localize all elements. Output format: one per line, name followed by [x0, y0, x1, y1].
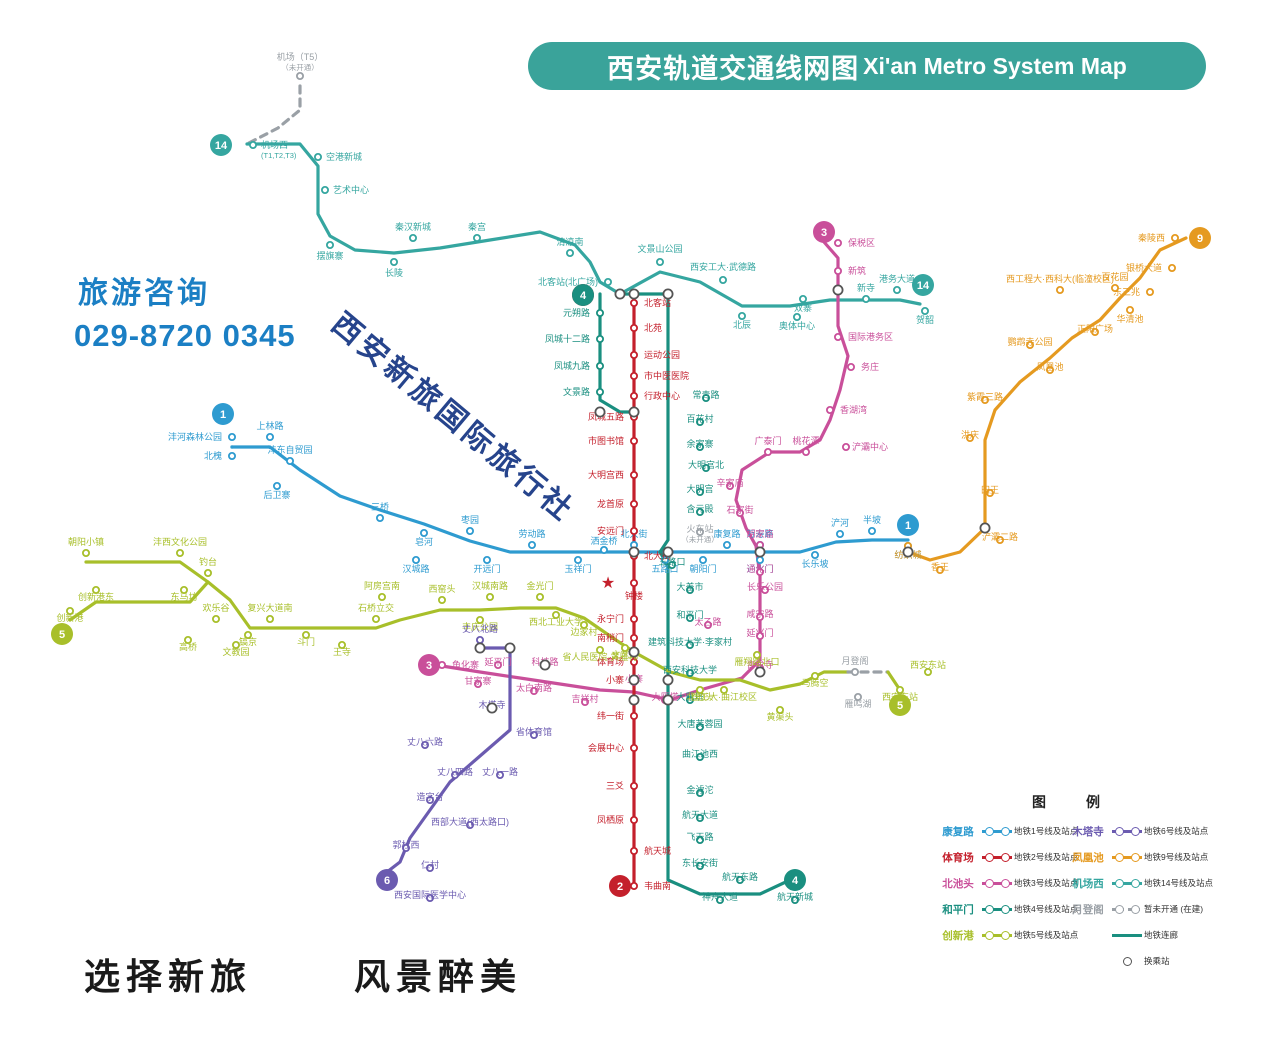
station-label: 文景山公园 [637, 243, 682, 254]
station-dot[interactable] [601, 547, 607, 553]
station[interactable]: 航天城 [631, 845, 671, 856]
station-dot[interactable] [739, 313, 745, 319]
interchange-ring[interactable] [629, 647, 638, 656]
station[interactable]: 丈八一路 [482, 766, 518, 778]
station[interactable]: 凤城九路 [554, 360, 603, 371]
station[interactable]: 钓台 [199, 556, 217, 576]
station[interactable]: 咸宁路 [746, 608, 773, 620]
station-dot[interactable] [800, 296, 806, 302]
station-dot[interactable] [315, 154, 321, 160]
station[interactable]: 皂河 [415, 530, 433, 547]
line-badge-3[interactable]: 3 [418, 654, 440, 676]
interchange-ring[interactable] [629, 289, 638, 298]
station[interactable]: 西安工大·武德路 [690, 261, 756, 283]
station[interactable]: 延兴门 [746, 627, 773, 639]
station[interactable]: 大差市 [676, 581, 703, 593]
station-dot[interactable] [439, 597, 445, 603]
station[interactable]: 半坡 [863, 514, 881, 534]
station[interactable]: 华清池 [1116, 307, 1143, 324]
station[interactable]: 秦陵西 [1138, 232, 1178, 243]
station[interactable]: 凤城十二路 [545, 333, 603, 344]
line-badge-3[interactable]: 3 [813, 221, 835, 243]
interchange-station[interactable] [629, 647, 638, 656]
station[interactable]: 开远门 [473, 557, 500, 574]
station[interactable]: 鹦鹉寺公园 [1007, 336, 1052, 348]
station[interactable]: 航天东路 [722, 871, 758, 883]
station-label: 航天大道 [682, 809, 718, 820]
map-title-cn: 西安轨道交通线网图 [607, 47, 859, 86]
station[interactable]: 和平门 [676, 609, 703, 621]
map-title-en: Xi'an Metro System Map [863, 53, 1127, 80]
station[interactable]: 枣园 [461, 515, 479, 534]
interchange-ring[interactable] [833, 285, 842, 294]
station[interactable]: 金光门 [526, 580, 553, 600]
station[interactable]: 辛家庙 [716, 477, 743, 489]
station-dot[interactable] [835, 268, 841, 274]
station[interactable]: 神舟大道 [702, 891, 738, 903]
station[interactable]: 汉城南路 [472, 580, 508, 600]
station[interactable]: 正阳广场 [1077, 323, 1113, 335]
interchange-ring[interactable] [663, 289, 672, 298]
station[interactable]: 西部大道(西太路口) [431, 816, 509, 828]
station-dot[interactable] [597, 310, 603, 316]
station-dot[interactable] [869, 528, 875, 534]
station[interactable]: 创新港 [56, 608, 83, 623]
station[interactable]: 火车站（未开通） [681, 523, 719, 544]
station-label: 务庄 [861, 361, 879, 372]
line-badge-5[interactable]: 5 [51, 623, 73, 645]
station[interactable]: 余家寨 [686, 438, 713, 450]
station-label: 雁翔路北口 [734, 656, 779, 667]
station-label: 沣西文化公园 [153, 536, 207, 547]
interchange-station[interactable] [505, 643, 514, 652]
station[interactable]: 钟楼 [625, 580, 643, 601]
interchange-ring[interactable] [663, 695, 672, 704]
station-dot[interactable] [597, 389, 603, 395]
line-badge-label: 9 [1197, 233, 1203, 245]
station[interactable]: 北槐 [204, 450, 235, 461]
station-label: 皂河 [415, 536, 433, 547]
station-dot[interactable] [1127, 307, 1133, 313]
station-dot[interactable] [529, 542, 535, 548]
station[interactable]: 延平门 [484, 656, 511, 668]
station[interactable]: 创新港东 [78, 587, 114, 602]
station[interactable]: 省体育馆 [516, 726, 552, 738]
station[interactable]: 丈八北路 [462, 623, 498, 643]
station[interactable]: 石家街 [726, 504, 753, 516]
line-badge-2[interactable]: 2 [609, 875, 631, 897]
station-label: 三桥 [371, 501, 389, 512]
station[interactable]: 贺韶 [916, 308, 934, 325]
station-dot[interactable] [863, 296, 869, 302]
station[interactable]: 太白南路 [516, 682, 552, 694]
station-dot[interactable] [287, 458, 293, 464]
interchange-station[interactable] [475, 643, 484, 652]
interchange-ring[interactable] [629, 695, 638, 704]
station[interactable]: 秦宫 [468, 221, 486, 241]
station-dot[interactable] [631, 635, 637, 641]
interchange-station[interactable] [980, 523, 989, 532]
line-badge-1[interactable]: 1 [897, 514, 919, 536]
station-dot[interactable] [724, 542, 730, 548]
interchange-ring[interactable] [663, 675, 672, 684]
station[interactable]: 甘家寨 [464, 675, 491, 687]
station[interactable]: 北辰 [733, 313, 751, 330]
interchange-station[interactable] [540, 660, 549, 669]
interchange-ring[interactable] [755, 667, 764, 676]
station-label: 香王 [931, 562, 949, 572]
station[interactable]: 浐灞中心 [843, 441, 888, 452]
station[interactable]: 行政中心 [631, 390, 680, 401]
station[interactable]: 胡家庙 [746, 528, 773, 548]
station[interactable]: 西窑头 [428, 583, 455, 603]
station-dot[interactable] [1057, 287, 1063, 293]
interchange-station[interactable] [755, 547, 764, 556]
station[interactable]: 长陵 [385, 259, 403, 278]
station[interactable]: 五路口 [658, 556, 685, 568]
station-dot[interactable] [1112, 285, 1118, 291]
station[interactable]: 浐河 [831, 517, 849, 537]
station[interactable]: 造字台 [416, 791, 443, 803]
station[interactable]: 大明宫 [686, 483, 713, 495]
station[interactable]: 航天新城 [777, 891, 813, 903]
station-dot[interactable] [848, 364, 854, 370]
interchange-ring[interactable] [595, 407, 604, 416]
station-dot[interactable] [575, 557, 581, 563]
station[interactable]: 建筑科技大学·李家村 [648, 636, 732, 648]
station-dot[interactable] [631, 883, 637, 889]
station-label: 省体育馆 [516, 726, 552, 737]
station-dot[interactable] [373, 616, 379, 622]
station[interactable]: 紫霞三路 [967, 391, 1003, 403]
line-badge-5[interactable]: 5 [889, 694, 911, 716]
station-dot[interactable] [631, 745, 637, 751]
station-dot[interactable] [474, 235, 480, 241]
station[interactable]: 会展中心 [588, 742, 637, 753]
station-dot[interactable] [484, 557, 490, 563]
station-dot[interactable] [377, 515, 383, 521]
station[interactable]: 元朔路 [563, 307, 603, 318]
station[interactable]: 西安科技大学 [663, 664, 717, 676]
line-badge-1[interactable]: 1 [212, 403, 234, 425]
station-dot[interactable] [537, 594, 543, 600]
station[interactable]: 文景路 [563, 386, 603, 397]
station-dot[interactable] [827, 407, 833, 413]
station[interactable]: 运动公园 [631, 350, 680, 360]
station[interactable]: 含元殿 [686, 503, 713, 515]
station[interactable]: 洒金桥 [590, 535, 617, 553]
station[interactable]: 南稍门 [597, 632, 637, 643]
station-dot[interactable] [421, 530, 427, 536]
station-dot[interactable] [922, 308, 928, 314]
station[interactable]: 银桥大道 [1126, 262, 1175, 273]
station-dot[interactable] [812, 552, 818, 558]
station[interactable]: 欢乐谷 [202, 602, 229, 622]
station-dot[interactable] [267, 616, 273, 622]
station-label: 东马坊 [170, 591, 197, 602]
station-dot[interactable] [631, 325, 637, 331]
interchange-station[interactable] [487, 703, 496, 712]
station[interactable]: 秦汉新城 [395, 221, 431, 241]
station-label: 长乐坡 [801, 558, 828, 569]
interchange-station[interactable] [755, 667, 764, 676]
interchange-station[interactable] [615, 289, 624, 298]
station-dot[interactable] [597, 336, 603, 342]
station[interactable]: 机场（T5）（未开通） [277, 51, 324, 79]
station[interactable]: 凤栖原 [597, 814, 637, 825]
interchange-ring[interactable] [663, 547, 672, 556]
station[interactable]: 永宁门 [597, 613, 637, 624]
station[interactable]: 务庄 [848, 361, 879, 372]
station[interactable]: 摆旗寨 [316, 242, 343, 261]
station-dot[interactable] [794, 314, 800, 320]
station[interactable]: 雁鸣湖 [844, 694, 871, 709]
station[interactable]: 阿房宫南 [364, 580, 400, 600]
interchange-ring[interactable] [629, 407, 638, 416]
interchange-station[interactable] [629, 407, 638, 416]
station-dot[interactable] [631, 373, 637, 379]
station[interactable]: 保税区 [835, 237, 875, 248]
station-label: 复兴大道南 [247, 602, 292, 613]
station-dot[interactable] [1172, 235, 1178, 241]
station-dot[interactable] [631, 438, 637, 444]
interchange-ring[interactable] [629, 547, 638, 556]
station[interactable]: 长乐坡 [801, 552, 828, 569]
station-dot[interactable] [631, 300, 637, 306]
station[interactable]: 东长安街 [682, 857, 718, 869]
line-badge-4[interactable]: 4 [572, 284, 594, 306]
interchange-station[interactable] [629, 695, 638, 704]
station[interactable]: 石桥立交 [358, 602, 394, 622]
station[interactable]: 长乐公园 [747, 581, 783, 593]
station[interactable]: 仁村 [421, 859, 439, 871]
interchange-ring[interactable] [615, 289, 624, 298]
station[interactable]: 劳动路 [518, 528, 545, 548]
station-dot[interactable] [229, 453, 235, 459]
station-dot[interactable] [631, 713, 637, 719]
station[interactable]: 沣西文化公园 [153, 536, 207, 556]
station[interactable]: 金滹沱 [686, 784, 713, 796]
station-dot[interactable] [631, 501, 637, 507]
station[interactable]: 沣东自贸园 [267, 444, 312, 464]
station[interactable]: 机场西(T1,T2,T3) [250, 139, 297, 160]
station[interactable]: 飞天路 [686, 831, 713, 843]
station-dot[interactable] [631, 817, 637, 823]
station-dot[interactable] [631, 528, 637, 534]
station-dot[interactable] [83, 550, 89, 556]
line-badge-4[interactable]: 4 [784, 869, 806, 891]
station[interactable]: 航天大道 [682, 809, 718, 821]
station-label: 文景路 [563, 386, 590, 397]
station-dot[interactable] [379, 594, 385, 600]
interchange-station[interactable] [903, 547, 912, 556]
station[interactable]: 百花村 [686, 413, 713, 425]
station-dot[interactable] [894, 287, 900, 293]
station[interactable]: 斗门 [297, 632, 315, 647]
station-dot[interactable] [657, 259, 663, 265]
station[interactable]: 黄渠头 [766, 707, 793, 722]
station[interactable]: 丈八四路 [437, 766, 473, 778]
legend-item-marker [982, 823, 1012, 839]
interchange-ring[interactable] [980, 523, 989, 532]
station-dot[interactable] [837, 531, 843, 537]
station[interactable]: 凤凰池 [1036, 361, 1063, 373]
station-dot[interactable] [467, 528, 473, 534]
station[interactable]: 西工程大·西科大(临潼校区) [1006, 273, 1114, 293]
interchange-station[interactable] [663, 695, 672, 704]
station[interactable]: 奥体中心 [779, 314, 815, 331]
station-dot[interactable] [605, 279, 611, 285]
station-dot[interactable] [410, 235, 416, 241]
interchange-station[interactable] [663, 289, 672, 298]
station[interactable]: 港务大道 [879, 273, 915, 293]
interchange-ring[interactable] [903, 547, 912, 556]
station-dot[interactable] [835, 240, 841, 246]
station-dot[interactable] [567, 250, 573, 256]
station[interactable]: 汉城路 [402, 557, 429, 574]
station-dot[interactable] [297, 73, 303, 79]
interchange-station[interactable] [663, 675, 672, 684]
station-dot[interactable] [229, 434, 235, 440]
station[interactable]: 大明宫北 [688, 459, 724, 471]
station[interactable]: 丈八六路 [407, 736, 443, 748]
station[interactable]: 韦曲南 [631, 880, 671, 891]
station[interactable]: 通化门 [746, 563, 773, 575]
station[interactable]: 洪庆 [961, 429, 979, 441]
station[interactable]: 曲江池西 [682, 748, 718, 760]
station-dot[interactable] [213, 616, 219, 622]
station-dot[interactable] [267, 434, 273, 440]
station-label: 边家村 [570, 626, 597, 637]
station[interactable]: 朝阳门 [689, 557, 716, 574]
station[interactable]: 三爻 [606, 781, 637, 791]
interchange-ring[interactable] [755, 547, 764, 556]
station-dot[interactable] [631, 848, 637, 854]
station-dot[interactable] [631, 783, 637, 789]
station[interactable]: 高桥 [179, 637, 197, 652]
station-dot[interactable] [700, 557, 706, 563]
station-dot[interactable] [391, 259, 397, 265]
station[interactable]: 艺术中心 [322, 184, 369, 195]
station-dot[interactable] [757, 557, 763, 563]
station-dot[interactable] [322, 187, 328, 193]
station-dot[interactable] [274, 483, 280, 489]
station[interactable]: 雁翔路北口 [734, 652, 779, 667]
legend-item-marker [982, 901, 1012, 917]
station[interactable]: 东马坊 [170, 587, 197, 602]
station[interactable]: 鱼化寨 [439, 659, 479, 670]
station[interactable]: 双寨 [794, 296, 812, 313]
station-dot[interactable] [177, 550, 183, 556]
station-label: 摆旗寨 [316, 250, 343, 261]
line-badge-14[interactable]: 14 [912, 274, 934, 296]
station[interactable]: 东三兆 [1113, 286, 1153, 297]
line-badge-6[interactable]: 6 [376, 869, 398, 891]
station[interactable]: 玉祥门 [564, 557, 591, 574]
station[interactable]: 西安东站 [910, 659, 946, 675]
station-dot[interactable] [327, 242, 333, 248]
interchange-station[interactable] [629, 547, 638, 556]
station[interactable]: 镐京 [239, 632, 257, 647]
station[interactable]: 西安国际医学中心 [394, 889, 466, 901]
station[interactable]: 三桥 [371, 501, 389, 521]
station-dot[interactable] [487, 594, 493, 600]
line-badge-9[interactable]: 9 [1189, 227, 1211, 249]
station-label: 广泰门 [754, 435, 781, 446]
station[interactable]: 常青路 [692, 389, 719, 401]
station[interactable]: 香王 [931, 562, 949, 573]
station-dot[interactable] [631, 352, 637, 358]
station[interactable]: 复兴大道南 [247, 602, 292, 622]
station[interactable]: 纬一街 [597, 710, 637, 721]
interchange-ring[interactable] [629, 675, 638, 684]
station-dot[interactable] [413, 557, 419, 563]
station-dot[interactable] [250, 142, 256, 148]
station-dot[interactable] [631, 580, 637, 586]
station-label: 东长安街 [682, 857, 718, 868]
station[interactable]: 马腾空 [801, 673, 828, 688]
interchange-ring[interactable] [475, 643, 484, 652]
station-dot[interactable] [205, 570, 211, 576]
station[interactable]: 郭杜西 [392, 839, 419, 851]
interchange-ring[interactable] [505, 643, 514, 652]
station-dot[interactable] [1169, 265, 1175, 271]
station-dot[interactable] [720, 277, 726, 283]
station-label: 运动公园 [644, 350, 680, 360]
legend-item-desc: 地铁6号线及站点 [1144, 825, 1208, 837]
interchange-station[interactable] [663, 547, 672, 556]
interchange-ring[interactable] [487, 703, 496, 712]
station-dot[interactable] [843, 444, 849, 450]
interchange-station[interactable] [595, 407, 604, 416]
station[interactable]: 龙首原 [597, 498, 637, 509]
station-dot[interactable] [631, 472, 637, 478]
interchange-station[interactable] [833, 285, 842, 294]
station[interactable]: 沣河森林公园 [168, 431, 235, 442]
station-dot[interactable] [1147, 289, 1153, 295]
station[interactable]: 田王 [981, 485, 999, 496]
station[interactable]: 王寺 [333, 642, 351, 657]
station-sublabel: （未开通） [681, 534, 719, 544]
interchange-station[interactable] [629, 289, 638, 298]
station-label: 西安科技大学 [663, 664, 717, 675]
station-dot[interactable] [477, 637, 483, 643]
station-dot[interactable] [631, 616, 637, 622]
station-dot[interactable] [835, 334, 841, 340]
station-dot[interactable] [631, 393, 637, 399]
station[interactable]: 清凉南 [556, 236, 583, 256]
station[interactable]: 市图书馆 [588, 435, 637, 446]
station[interactable]: 朝阳小镇 [68, 536, 104, 556]
station-dot[interactable] [765, 449, 771, 455]
station[interactable]: 大明宫西 [588, 469, 637, 480]
station-dot[interactable] [852, 669, 858, 675]
station[interactable]: 上林路 [256, 420, 283, 440]
station-label: 北客站(北广场) [538, 276, 598, 287]
station[interactable]: 空港新城 [315, 151, 362, 162]
station[interactable]: 文景山公园 [637, 243, 682, 265]
station-label: 汉城南路 [472, 580, 508, 591]
interchange-ring[interactable] [540, 660, 549, 669]
station-dot[interactable] [803, 449, 809, 455]
station[interactable]: 吉祥村 [571, 693, 598, 705]
station[interactable]: 大唐芙蓉园 [677, 718, 722, 730]
interchange-station[interactable] [629, 675, 638, 684]
station-dot[interactable] [597, 363, 603, 369]
station[interactable]: 后卫寨 [263, 483, 290, 500]
station[interactable]: 市中医医院 [631, 370, 689, 381]
line-badge-14[interactable]: 14 [210, 134, 232, 156]
